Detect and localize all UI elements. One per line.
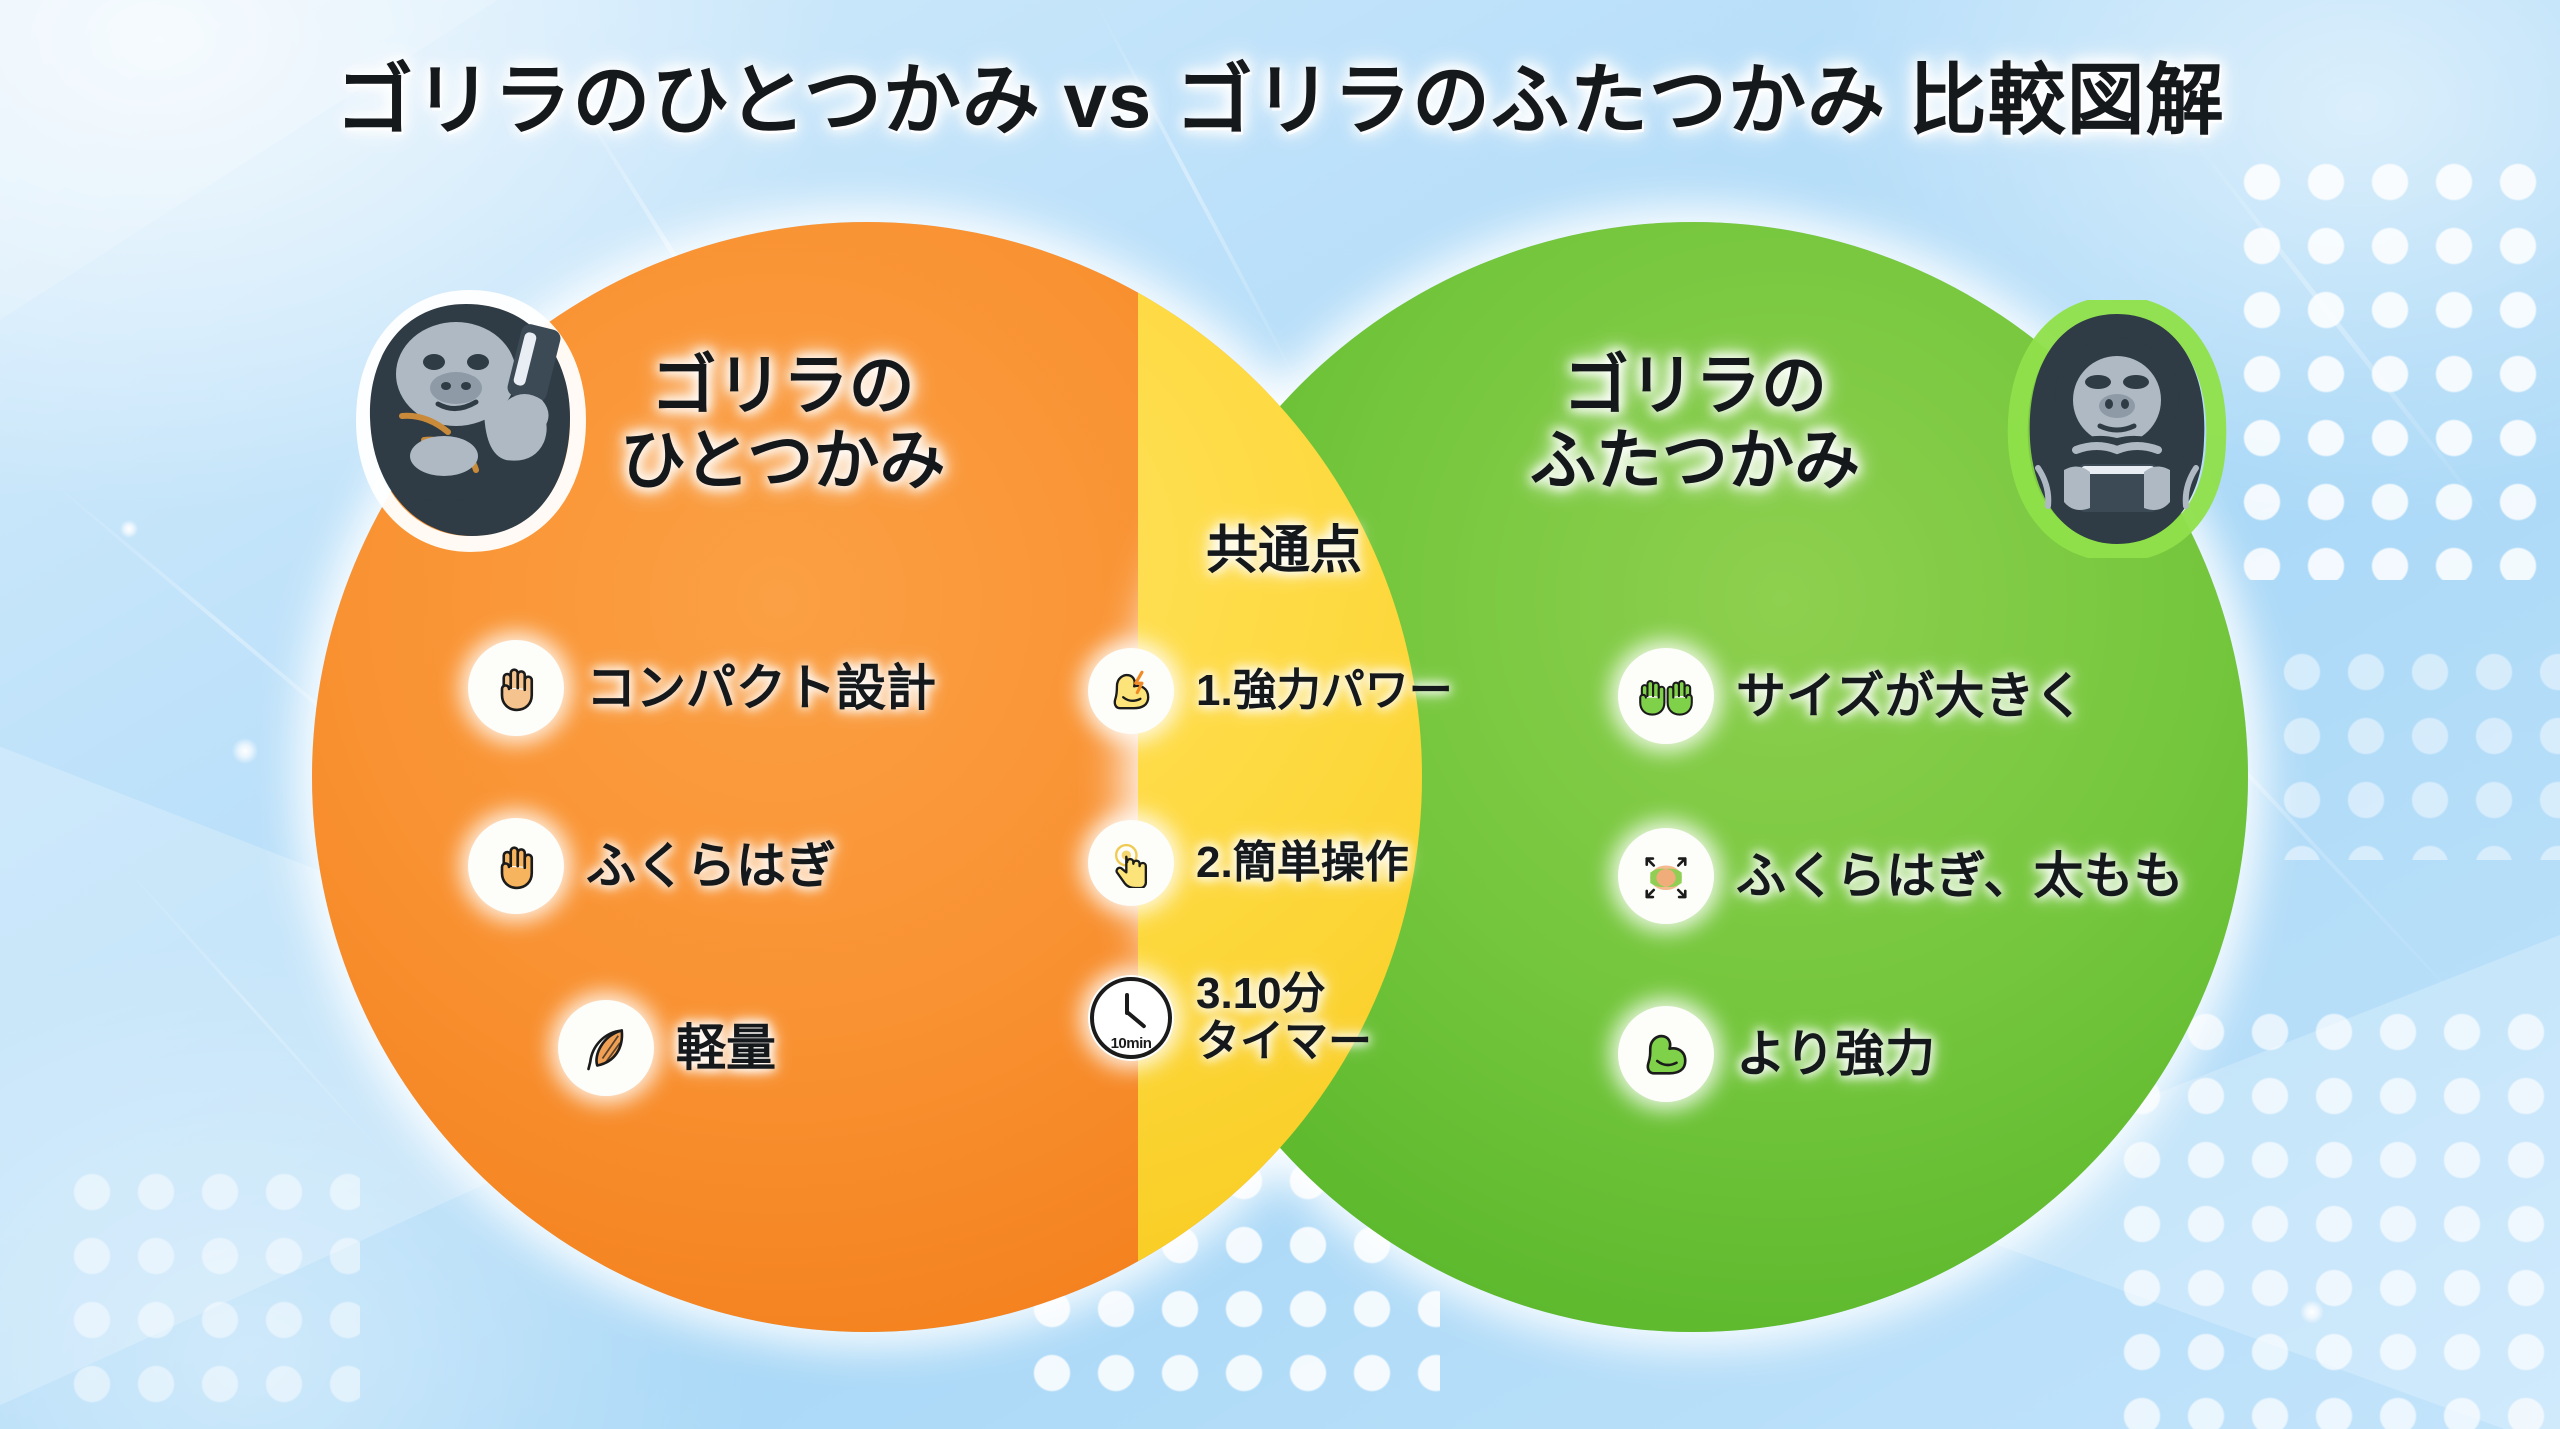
list-item: 軽量 — [558, 1000, 776, 1096]
list-item: ふくらはぎ — [468, 818, 836, 914]
feather-icon — [558, 1000, 654, 1096]
list-item-label: ふくらはぎ — [586, 839, 836, 893]
list-item-label: 3.10分 タイマー — [1196, 970, 1372, 1065]
clock-minute-hand — [1126, 1010, 1147, 1028]
list-item: コンパクト設計 — [468, 640, 936, 736]
list-item: 2.簡単操作 — [1088, 820, 1409, 906]
list-item-label: サイズが大きく — [1736, 669, 2085, 723]
right-circle-heading: ゴリラの ふたつかみ — [1530, 348, 1860, 498]
list-item: サイズが大きく — [1618, 648, 2085, 744]
open-hand-icon — [468, 640, 564, 736]
open-hand-icon — [468, 818, 564, 914]
list-item-label: ふくらはぎ、太もも — [1736, 849, 2184, 903]
gorilla-two-hands-icon — [1992, 300, 2242, 558]
list-item: 10min 3.10分 タイマー — [1088, 970, 1372, 1065]
left-circle-heading: ゴリラの ひとつかみ — [620, 348, 945, 498]
two-open-hands-icon — [1618, 648, 1714, 744]
left-heading-line2: ひとつかみ — [620, 423, 945, 498]
pointing-finger-icon — [1088, 820, 1174, 906]
timer-duration-label: 10min — [1111, 1036, 1152, 1055]
expand-arrows-icon — [1618, 828, 1714, 924]
ten-minute-timer-icon: 10min — [1088, 975, 1174, 1061]
left-heading-line1: ゴリラの — [620, 348, 945, 423]
venn-overlap-lens — [1138, 222, 1422, 1332]
right-heading-line1: ゴリラの — [1530, 348, 1860, 423]
gorilla-one-hand-icon — [338, 288, 600, 556]
venn-diagram: ゴリラの ひとつかみ ゴリラの ふたつかみ 共通点 コン — [0, 0, 2560, 1429]
flexed-biceps-icon — [1618, 1006, 1714, 1102]
list-item-label: 1.強力パワー — [1196, 667, 1453, 715]
right-heading-line2: ふたつかみ — [1530, 423, 1860, 498]
list-item-label: より強力 — [1736, 1027, 1935, 1081]
list-item-label: 2.簡単操作 — [1196, 839, 1409, 887]
list-item: より強力 — [1618, 1006, 1935, 1102]
overlap-heading: 共通点 — [1144, 508, 1424, 583]
clock-face: 10min — [1090, 977, 1172, 1059]
list-item-label: コンパクト設計 — [586, 661, 936, 715]
list-item: 1.強力パワー — [1088, 648, 1453, 734]
list-item: ふくらはぎ、太もも — [1618, 828, 2184, 924]
list-item-label: 軽量 — [676, 1021, 776, 1075]
flexed-biceps-icon — [1088, 648, 1174, 734]
infographic-canvas: ゴリラのひとつかみ vs ゴリラのふたつかみ 比較図解 — [0, 0, 2560, 1429]
